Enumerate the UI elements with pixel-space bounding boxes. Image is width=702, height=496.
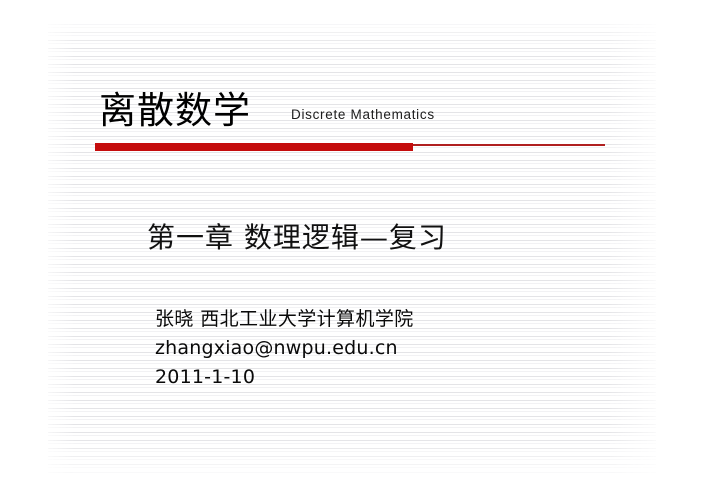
- chapter-title: 第一章 数理逻辑—复习: [147, 218, 447, 258]
- presentation-title-slide: 离散数学 Discrete Mathematics 第一章 数理逻辑—复习 张晓…: [0, 0, 702, 496]
- author-info-block: 张晓 西北工业大学计算机学院 zhangxiao@nwpu.edu.cn 201…: [155, 304, 414, 392]
- header-divider: [0, 142, 702, 154]
- author-affiliation: 张晓 西北工业大学计算机学院: [155, 304, 414, 334]
- course-title-chinese: 离散数学: [99, 88, 251, 134]
- presentation-date: 2011-1-10: [155, 363, 414, 392]
- author-email: zhangxiao@nwpu.edu.cn: [155, 334, 414, 363]
- divider-thin-line: [413, 144, 605, 146]
- course-title-english: Discrete Mathematics: [291, 106, 435, 124]
- divider-thick-bar: [95, 143, 413, 151]
